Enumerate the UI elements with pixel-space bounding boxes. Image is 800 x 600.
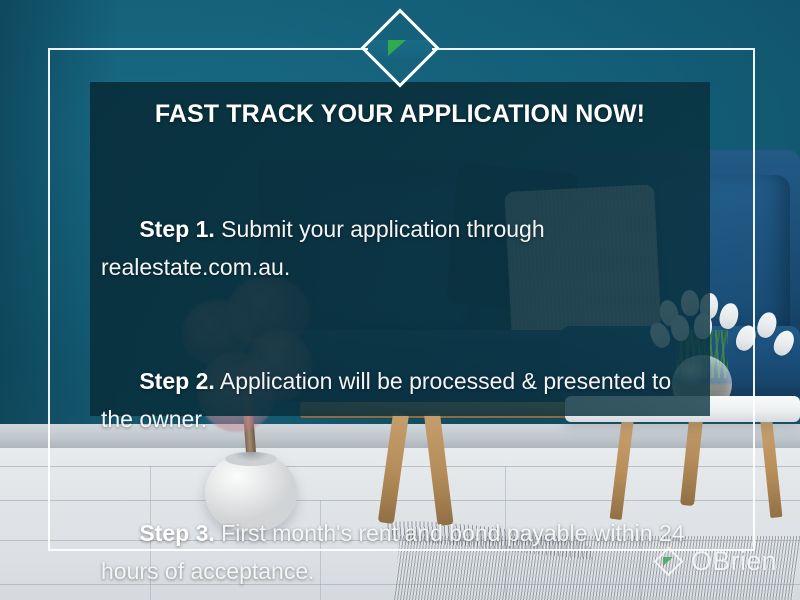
steps-list: Step 1. Submit your application through … — [101, 172, 701, 600]
poster-canvas: FAST TRACK YOUR APPLICATION NOW! Step 1.… — [0, 0, 800, 600]
brand-name: OBrien — [691, 546, 777, 577]
step-label: Step 3. — [139, 520, 214, 546]
step-item: Step 1. Submit your application through … — [101, 172, 701, 324]
step-label: Step 2. — [139, 368, 214, 394]
green-triangle-icon — [388, 40, 406, 56]
step-item: Step 3. First month's rent and bond paya… — [101, 476, 701, 600]
page-title: FAST TRACK YOUR APPLICATION NOW! — [90, 100, 710, 129]
brand-logo: OBrien — [655, 546, 777, 577]
diamond-ornament-icon — [372, 20, 428, 76]
diamond-chevron-icon — [655, 548, 682, 575]
step-item: Step 2. Application will be processed & … — [101, 324, 701, 476]
step-label: Step 1. — [139, 216, 214, 242]
logo-green-triangle-icon — [663, 557, 673, 566]
